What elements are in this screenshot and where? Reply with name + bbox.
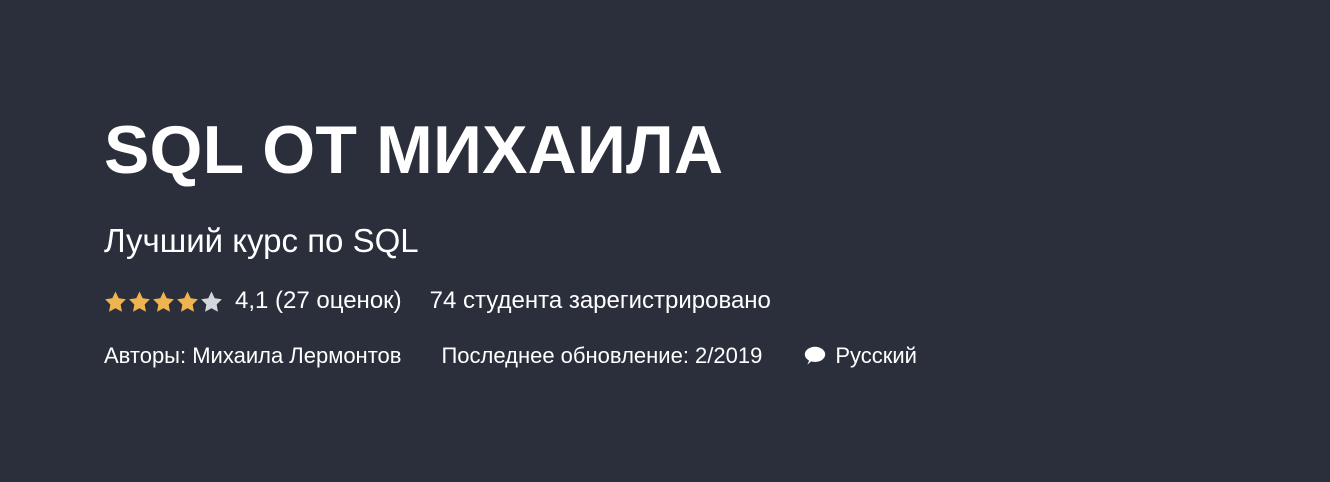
star-icon-2 <box>128 290 151 313</box>
course-hero-banner: SQL ОТ МИХАИЛА Лучший курс по SQL <box>0 0 1330 482</box>
star-rating[interactable] <box>104 290 223 313</box>
course-title: SQL ОТ МИХАИЛА <box>104 111 723 189</box>
students-enrolled-label: 74 студента зарегистрировано <box>430 286 771 316</box>
comment-icon <box>804 346 826 366</box>
course-subtitle: Лучший курс по SQL <box>104 219 419 263</box>
course-meta-row: Авторы: Михаила Лермонтов Последнее обно… <box>104 341 917 371</box>
rating-value-label[interactable]: 4,1 (27 оценок) <box>235 286 402 316</box>
rating-row: 4,1 (27 оценок) 74 студента зарегистриро… <box>104 286 771 316</box>
language-label: Русский <box>835 341 917 371</box>
star-icon-1 <box>104 290 127 313</box>
star-icon-5-empty <box>200 290 223 313</box>
last-update-label: Последнее обновление: 2/2019 <box>441 341 762 371</box>
star-icon-4 <box>176 290 199 313</box>
star-icon-3 <box>152 290 175 313</box>
authors-label[interactable]: Авторы: Михаила Лермонтов <box>104 341 401 371</box>
course-language: Русский <box>804 341 917 371</box>
